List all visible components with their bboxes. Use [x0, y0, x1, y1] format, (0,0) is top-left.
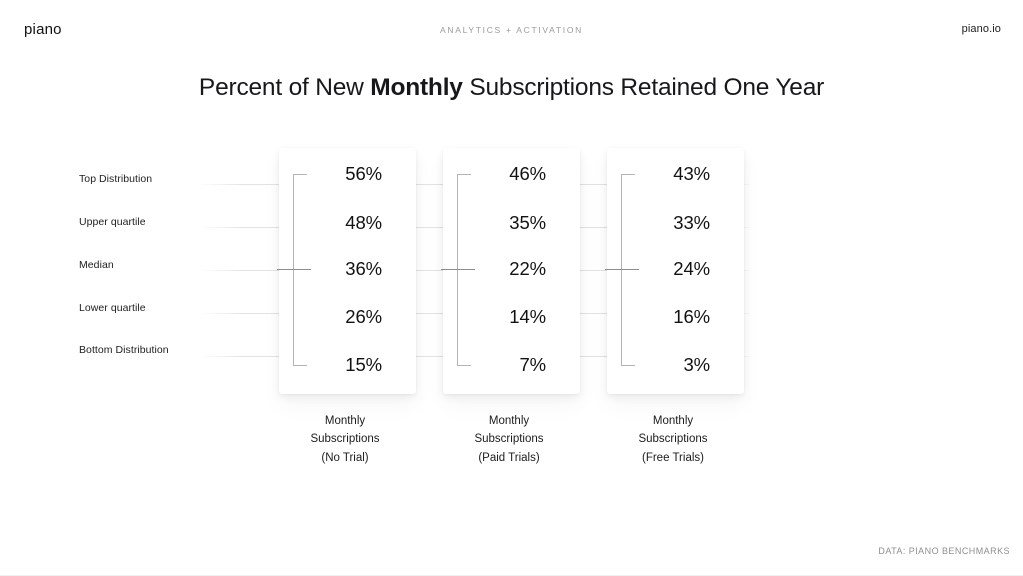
value-no-trial-median: 36% [320, 258, 382, 280]
value-free-trials-lower-quartile: 16% [648, 306, 710, 328]
caption-free-trials: Monthly Subscriptions (Free Trials) [593, 412, 753, 467]
caption-no-trial-line-2: Subscriptions [265, 430, 425, 448]
caption-no-trial: Monthly Subscriptions (No Trial) [265, 412, 425, 467]
value-paid-trials-bottom-distribution: 7% [484, 354, 546, 376]
slide-canvas: piano ANALYTICS + ACTIVATION piano.io Pe… [0, 0, 1023, 576]
value-free-trials-bottom-distribution: 3% [648, 354, 710, 376]
caption-paid-trials-line-1: Monthly [429, 412, 589, 430]
row-label-top-distribution: Top Distribution [79, 173, 152, 185]
caption-no-trial-line-1: Monthly [265, 412, 425, 430]
row-label-upper-quartile: Upper quartile [79, 216, 146, 228]
row-label-bottom-distribution: Bottom Distribution [79, 344, 169, 356]
value-paid-trials-top-distribution: 46% [484, 163, 546, 185]
caption-free-trials-line-1: Monthly [593, 412, 753, 430]
value-paid-trials-lower-quartile: 14% [484, 306, 546, 328]
caption-free-trials-line-2: Subscriptions [593, 430, 753, 448]
value-no-trial-top-distribution: 56% [320, 163, 382, 185]
row-label-lower-quartile: Lower quartile [79, 302, 146, 314]
value-no-trial-upper-quartile: 48% [320, 212, 382, 234]
value-no-trial-lower-quartile: 26% [320, 306, 382, 328]
caption-free-trials-line-3: (Free Trials) [593, 449, 753, 467]
caption-paid-trials-line-2: Subscriptions [429, 430, 589, 448]
row-label-median: Median [79, 259, 114, 271]
value-free-trials-upper-quartile: 33% [648, 212, 710, 234]
value-no-trial-bottom-distribution: 15% [320, 354, 382, 376]
caption-paid-trials: Monthly Subscriptions (Paid Trials) [429, 412, 589, 467]
box-plot-chart: Top Distribution Upper quartile Median L… [0, 0, 1023, 576]
value-free-trials-top-distribution: 43% [648, 163, 710, 185]
value-free-trials-median: 24% [648, 258, 710, 280]
caption-no-trial-line-3: (No Trial) [265, 449, 425, 467]
value-paid-trials-median: 22% [484, 258, 546, 280]
caption-paid-trials-line-3: (Paid Trials) [429, 449, 589, 467]
data-source-note: DATA: PIANO BENCHMARKS [878, 546, 1010, 556]
value-paid-trials-upper-quartile: 35% [484, 212, 546, 234]
